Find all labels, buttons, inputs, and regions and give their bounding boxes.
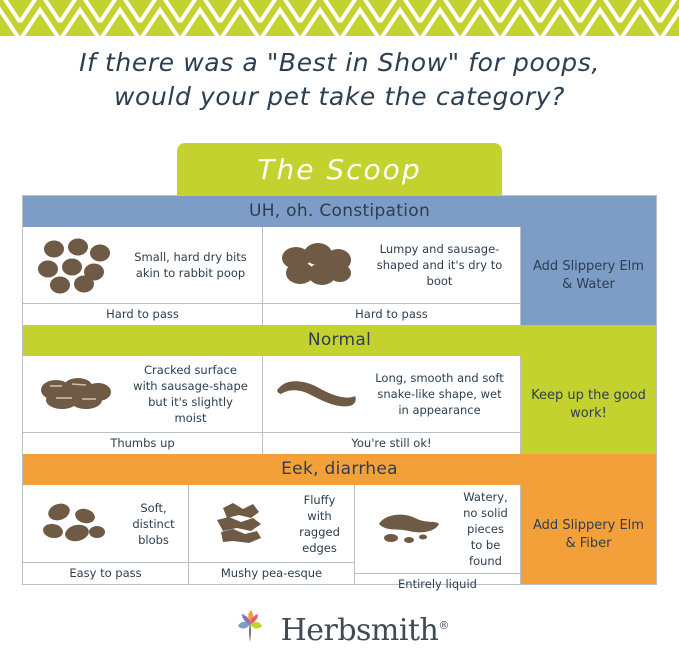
cell-footer: Entirely liquid xyxy=(355,573,520,595)
registered-mark: ® xyxy=(438,619,449,632)
section-header-constipation: UH, oh. Constipation xyxy=(23,196,656,227)
stool-cell: Soft, distinct blobs Easy to pass xyxy=(23,485,189,584)
chevron-pattern-band xyxy=(0,0,679,36)
table-row: Small, hard dry bits akin to rabbit poop… xyxy=(23,227,656,325)
stool-chart: UH, oh. Constipation xyxy=(22,195,657,585)
stool-cell: Fluffy with ragged edges Mushy pea-esque xyxy=(189,485,355,584)
watery-icon xyxy=(361,506,457,552)
scoop-tab-title: The Scoop xyxy=(177,143,502,195)
headline-line-2: would your pet take the category? xyxy=(0,80,679,114)
cracked-sausage-icon xyxy=(29,372,125,416)
cell-footer: You're still ok! xyxy=(263,432,520,454)
cell-main: Watery, no solid pieces to be found xyxy=(355,485,520,573)
row-cells: Cracked surface with sausage-shape but i… xyxy=(23,356,521,454)
table-row: Soft, distinct blobs Easy to pass xyxy=(23,485,656,584)
stool-cell: Watery, no solid pieces to be found Enti… xyxy=(355,485,521,584)
cell-description: Lumpy and sausage-shaped and it's dry to… xyxy=(365,241,514,289)
advice-constipation: Add Slippery Elm & Water xyxy=(521,227,656,325)
pellets-icon xyxy=(29,236,125,294)
section-constipation: UH, oh. Constipation xyxy=(23,196,656,325)
cell-footer: Mushy pea-esque xyxy=(189,562,354,584)
row-cells: Small, hard dry bits akin to rabbit poop… xyxy=(23,227,521,325)
brand-name-text: Herbsmith xyxy=(281,613,439,648)
soft-blobs-icon xyxy=(29,498,125,550)
cell-main: Soft, distinct blobs xyxy=(23,485,188,562)
row-cells: Soft, distinct blobs Easy to pass xyxy=(23,485,521,584)
cell-footer: Thumbs up xyxy=(23,432,262,454)
cell-footer: Hard to pass xyxy=(23,303,262,325)
cell-description: Cracked surface with sausage-shape but i… xyxy=(125,362,256,426)
advice-normal: Keep up the good work! xyxy=(521,356,656,454)
stool-cell: Small, hard dry bits akin to rabbit poop… xyxy=(23,227,263,325)
stool-cell: Cracked surface with sausage-shape but i… xyxy=(23,356,263,454)
page-title: If there was a "Best in Show" for poops,… xyxy=(0,46,679,114)
cell-footer: Easy to pass xyxy=(23,562,188,584)
cell-description: Watery, no solid pieces to be found xyxy=(457,489,514,569)
cell-main: Long, smooth and soft snake-like shape, … xyxy=(263,356,520,432)
table-row: Cracked surface with sausage-shape but i… xyxy=(23,356,656,454)
section-header-normal: Normal xyxy=(23,325,656,356)
cell-main: Lumpy and sausage-shaped and it's dry to… xyxy=(263,227,520,303)
stool-cell: Lumpy and sausage-shaped and it's dry to… xyxy=(263,227,521,325)
cell-main: Cracked surface with sausage-shape but i… xyxy=(23,356,262,432)
cell-description: Long, smooth and soft snake-like shape, … xyxy=(365,370,514,418)
headline-line-1: If there was a "Best in Show" for poops, xyxy=(0,46,679,80)
chevron-pattern-icon xyxy=(0,0,679,36)
brand-logo: Herbsmith® xyxy=(0,608,679,653)
lumpy-sausage-icon xyxy=(269,240,365,290)
cell-footer: Hard to pass xyxy=(263,303,520,325)
section-header-diarrhea: Eek, diarrhea xyxy=(23,454,656,485)
section-diarrhea: Eek, diarrhea xyxy=(23,454,656,584)
fluffy-ragged-icon xyxy=(195,498,291,550)
smooth-snake-icon xyxy=(269,374,365,414)
brand-name: Herbsmith® xyxy=(281,613,449,648)
cell-main: Fluffy with ragged edges xyxy=(189,485,354,562)
stool-cell: Long, smooth and soft snake-like shape, … xyxy=(263,356,521,454)
cell-description: Soft, distinct blobs xyxy=(125,500,182,548)
herbsmith-leaf-icon xyxy=(230,608,270,653)
cell-description: Fluffy with ragged edges xyxy=(291,492,348,556)
cell-description: Small, hard dry bits akin to rabbit poop xyxy=(125,249,256,281)
advice-diarrhea: Add Slippery Elm & Fiber xyxy=(521,485,656,584)
cell-main: Small, hard dry bits akin to rabbit poop xyxy=(23,227,262,303)
section-normal: Normal xyxy=(23,325,656,454)
